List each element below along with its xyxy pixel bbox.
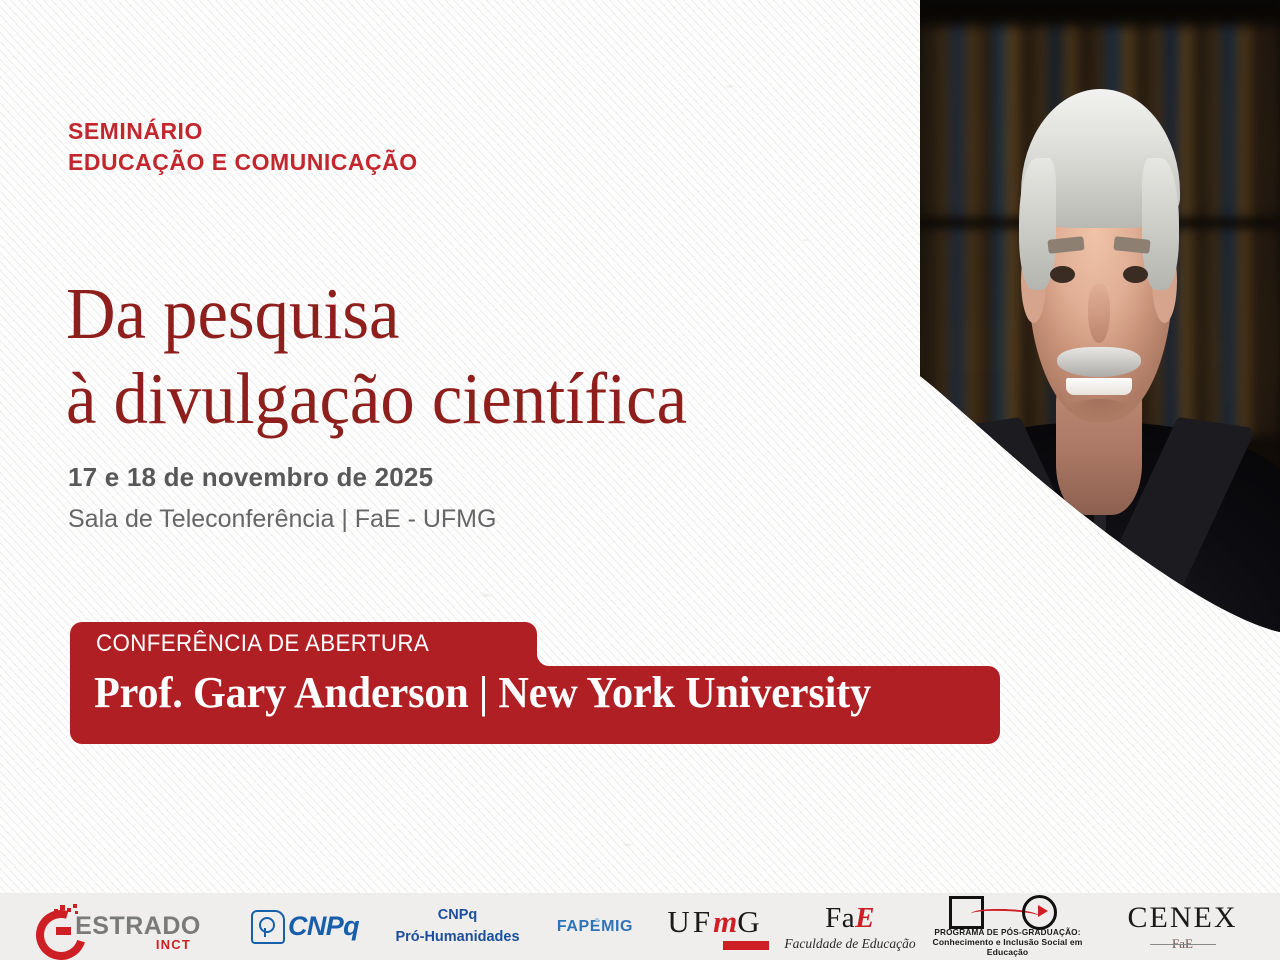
title-line-1: Da pesquisa [66,273,399,354]
cnpq-row: CNPq [251,910,359,944]
cnpq-logo: CNPq [235,893,375,960]
cenex-fae-logo: CENEX FaE [1095,893,1270,960]
banner-speaker-label: Prof. Gary Anderson | New York Universit… [94,667,871,718]
kicker-line-2: EDUCAÇÃO E COMUNICAÇÃO [68,147,688,178]
speaker-mouth [1066,378,1131,395]
pro-humanidades-line-2: Pró-Humanidades [395,927,519,948]
gestrado-inct-logo: ESTRADO INCT [0,893,235,960]
banner-tab-label: CONFERÊNCIA DE ABERTURA [96,630,429,658]
cenex-wordmark: CENEX [1128,901,1238,935]
pro-humanidades-line-1: CNPq [395,905,519,926]
speaker-hair-side-right [1142,158,1178,290]
seminar-kicker: SEMINÁRIO EDUCAÇÃO E COMUNICAÇÃO [68,116,688,177]
kicker-line-1: SEMINÁRIO [68,116,688,147]
fae-letters-fa: Fa [825,902,855,934]
ufmg-letter-f: F [693,904,713,939]
fae-letter-e: E [855,902,875,934]
cnpq-head-icon [251,910,285,944]
speaker-chin-shadow [1066,399,1131,419]
ppg-line-1: PROGRAMA DE PÓS-GRADUAÇÃO: [920,928,1095,937]
programa-pos-graduacao-logo: PROGRAMA DE PÓS-GRADUAÇÃO: Conhecimento … [920,893,1095,960]
gestrado-g-icon [34,907,74,947]
ufmg-letter-m: m [713,904,737,939]
fapemig-logo: FAPEMIG [540,893,650,960]
fae-wordmark: FaE [784,902,915,935]
gestrado-inct-sublabel: INCT [156,937,191,952]
ufmg-letter-u: U [667,904,692,939]
ufmg-wordmark: UFmG [661,904,769,940]
sponsor-logo-bar: ESTRADO INCT CNPq CNPq Pró-Humanidades F… [0,893,1280,960]
cnpq-pro-humanidades-logo: CNPq Pró-Humanidades [375,893,540,960]
ufmg-logo: UFmG [650,893,780,960]
event-date: 17 e 18 de novembro de 2025 [68,462,433,493]
ppg-square-circle-arrow-icon [943,896,1073,926]
ufmg-red-bar [723,941,769,950]
speaker-eye-right [1123,266,1148,283]
event-poster: SEMINÁRIO EDUCAÇÃO E COMUNICAÇÃO Da pesq… [0,0,1280,960]
speaker-mustache [1057,347,1140,377]
fae-sublabel: Faculdade de Educação [784,936,915,952]
cenex-sublabel: FaE [1128,936,1238,952]
ufmg-letter-g: G [737,904,762,939]
speaker-nose [1088,284,1110,343]
fae-logo: FaE Faculdade de Educação [780,893,920,960]
cnpq-wordmark: CNPq [288,911,359,942]
page-title: Da pesquisa à divulgação científica [66,271,846,442]
ppg-line-2: Conhecimento e Inclusão Social em Educaç… [920,937,1095,957]
gestrado-pixels-icon [54,903,80,917]
title-line-2: à divulgação científica [66,356,846,441]
opening-conference-banner: CONFERÊNCIA DE ABERTURA Prof. Gary Ander… [70,622,1000,744]
event-venue: Sala de Teleconferência | FaE - UFMG [68,505,496,534]
